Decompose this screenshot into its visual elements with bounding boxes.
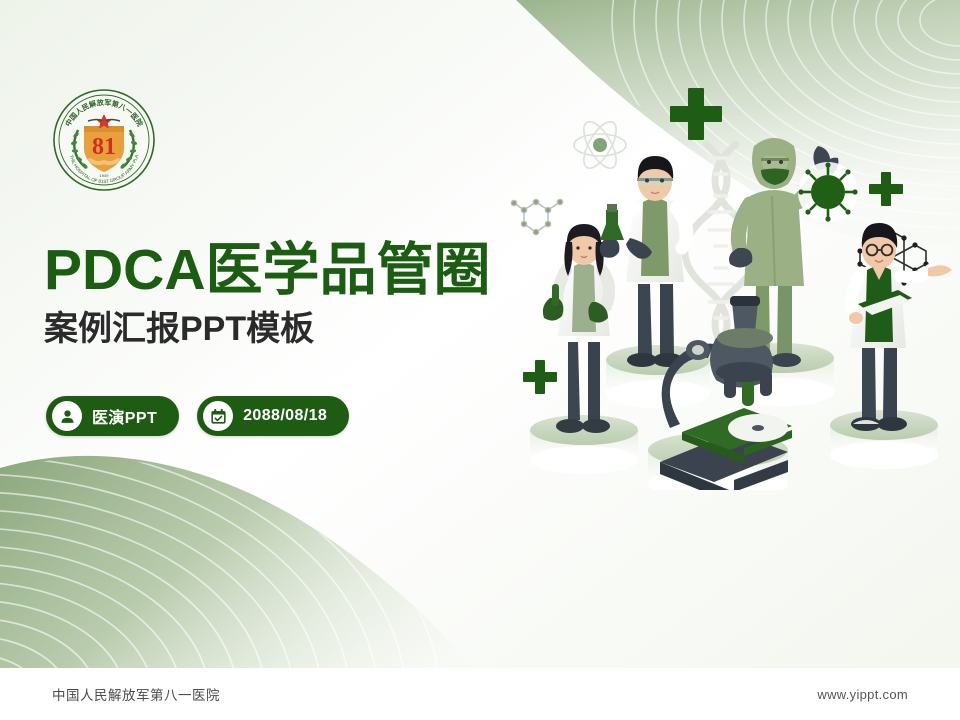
hospital-logo: 中国人民解放军第八一医院 THE HOSPITAL OF 81ST GROUP …	[52, 88, 156, 192]
logo-center-text: 81	[92, 134, 116, 160]
date-pill[interactable]: 2088/08/18	[197, 396, 349, 436]
virus-particle	[798, 162, 857, 221]
footer-hospital-name: 中国人民解放军第八一医院	[52, 684, 220, 704]
green-cross-small-right	[869, 172, 903, 206]
date-label: 2088/08/18	[243, 407, 327, 425]
male-scientist-with-flask	[600, 156, 687, 367]
author-pill[interactable]: 医演PPT	[46, 396, 179, 436]
molecule-chain-left	[511, 199, 562, 234]
title-block: PDCA医学品管圈 案例汇报PPT模板	[44, 240, 491, 350]
meta-pill-row: 医演PPT 2088/08/18	[46, 396, 349, 436]
footer-website[interactable]: www.yippt.com	[817, 687, 908, 702]
slide-canvas: 中国人民解放军第八一医院 THE HOSPITAL OF 81ST GROUP …	[0, 0, 960, 720]
calendar-icon	[203, 401, 233, 431]
green-cross-large	[670, 88, 722, 140]
atom-molecule	[574, 117, 626, 173]
green-cross-small-left	[523, 360, 557, 394]
page-title: PDCA医学品管圈	[44, 240, 491, 302]
medical-research-illustration	[510, 70, 960, 490]
male-scientist-with-book	[849, 223, 952, 431]
footer-bar: 中国人民解放军第八一医院 www.yippt.com	[0, 668, 960, 720]
person-icon	[52, 401, 82, 431]
author-label: 医演PPT	[92, 404, 157, 428]
female-scientist-with-gloves	[543, 224, 610, 433]
svg-text:1949: 1949	[100, 173, 110, 178]
page-subtitle: 案例汇报PPT模板	[44, 308, 491, 351]
